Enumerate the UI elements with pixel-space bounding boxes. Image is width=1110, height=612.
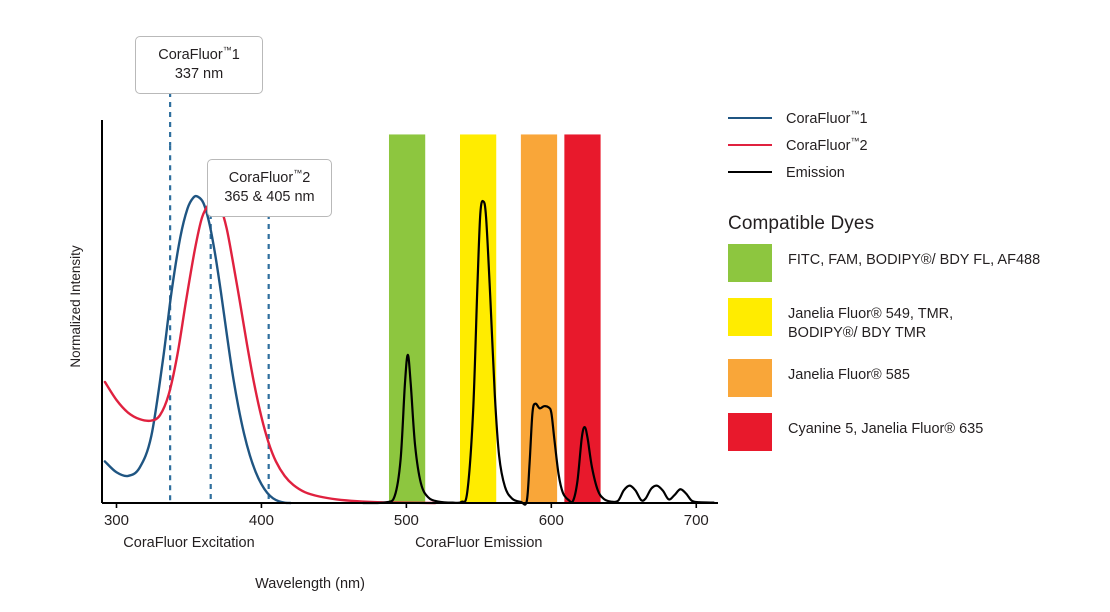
dye-red-label: Cyanine 5, Janelia Fluor® 635 (788, 413, 983, 439)
legend-line-label: Emission (786, 163, 845, 181)
dye-label-line: FITC, FAM, BODIPY®/ BDY FL, AF488 (788, 251, 1040, 270)
spectra-figure: 300400500600700CoraFluor ExcitationCoraF… (0, 0, 1110, 612)
dye-orange-row: Janelia Fluor® 585 (728, 359, 1110, 397)
legend-series-list: CoraFluor™1CoraFluor™2Emission (728, 104, 1110, 185)
compatible-dyes-heading: Compatible Dyes (728, 213, 1110, 235)
legend-line-label: CoraFluor™1 (786, 109, 868, 127)
legend-line-swatch (728, 117, 772, 119)
dye-yellow-label: Janelia Fluor® 549, TMR,BODIPY®/ BDY TMR (788, 298, 953, 343)
dye-label-line: Cyanine 5, Janelia Fluor® 635 (788, 420, 983, 439)
legend-label-text: CoraFluor (786, 110, 850, 126)
dye-red-row: Cyanine 5, Janelia Fluor® 635 (728, 413, 1110, 451)
legend-corafluor2: CoraFluor™2 (728, 131, 1110, 158)
legend: CoraFluor™1CoraFluor™2Emission Compatibl… (728, 104, 1110, 467)
dye-yellow-row: Janelia Fluor® 549, TMR,BODIPY®/ BDY TMR (728, 298, 1110, 343)
legend-label-suffix: 1 (859, 110, 867, 126)
dye-yellow-swatch (728, 298, 772, 336)
callout-line-1: CoraFluor™2 (218, 167, 321, 188)
red-band (564, 134, 600, 503)
orange-band (521, 134, 557, 503)
x-tick-label: 600 (539, 512, 564, 529)
x-axis-title: Wavelength (nm) (255, 576, 365, 592)
series-curve (105, 201, 435, 503)
dye-label-line: BODIPY®/ BDY TMR (788, 324, 953, 343)
x-tick-label: 300 (104, 512, 129, 529)
axis-region-label: CoraFluor Excitation (123, 535, 254, 551)
legend-line-swatch (728, 144, 772, 146)
legend-line-swatch (728, 171, 772, 173)
legend-label-suffix: 2 (859, 137, 867, 153)
legend-label-text: Emission (786, 164, 845, 180)
x-tick-label: 500 (394, 512, 419, 529)
green-band (389, 134, 425, 503)
callout-line-2: 365 & 405 nm (218, 188, 321, 208)
legend-line-label: CoraFluor™2 (786, 136, 868, 154)
callout-line-1: CoraFluor™1 (146, 44, 252, 65)
legend-label-text: CoraFluor (786, 137, 850, 153)
dye-label-line: Janelia Fluor® 585 (788, 366, 910, 385)
compatible-dyes-list: FITC, FAM, BODIPY®/ BDY FL, AF488Janelia… (728, 244, 1110, 451)
x-tick-label: 400 (249, 512, 274, 529)
axis-region-label: CoraFluor Emission (415, 535, 542, 551)
dye-orange-label: Janelia Fluor® 585 (788, 359, 910, 385)
legend-corafluor1: CoraFluor™1 (728, 104, 1110, 131)
dye-green-swatch (728, 244, 772, 282)
dye-green-label: FITC, FAM, BODIPY®/ BDY FL, AF488 (788, 244, 1040, 270)
series-curve (105, 196, 291, 503)
legend-emission: Emission (728, 158, 1110, 185)
chart-area: 300400500600700CoraFluor ExcitationCoraF… (0, 0, 730, 612)
y-axis-title: Normalized Intensity (68, 245, 83, 368)
corafluor2-callout: CoraFluor™2 365 & 405 nm (207, 159, 332, 217)
dye-label-line: Janelia Fluor® 549, TMR, (788, 305, 953, 324)
spectra-plot: 300400500600700CoraFluor ExcitationCoraF… (0, 0, 730, 612)
corafluor1-callout: CoraFluor™1 337 nm (135, 36, 263, 94)
x-tick-label: 700 (684, 512, 709, 529)
callout-line-2: 337 nm (146, 65, 252, 85)
dye-orange-swatch (728, 359, 772, 397)
dye-green-row: FITC, FAM, BODIPY®/ BDY FL, AF488 (728, 244, 1110, 282)
dye-red-swatch (728, 413, 772, 451)
